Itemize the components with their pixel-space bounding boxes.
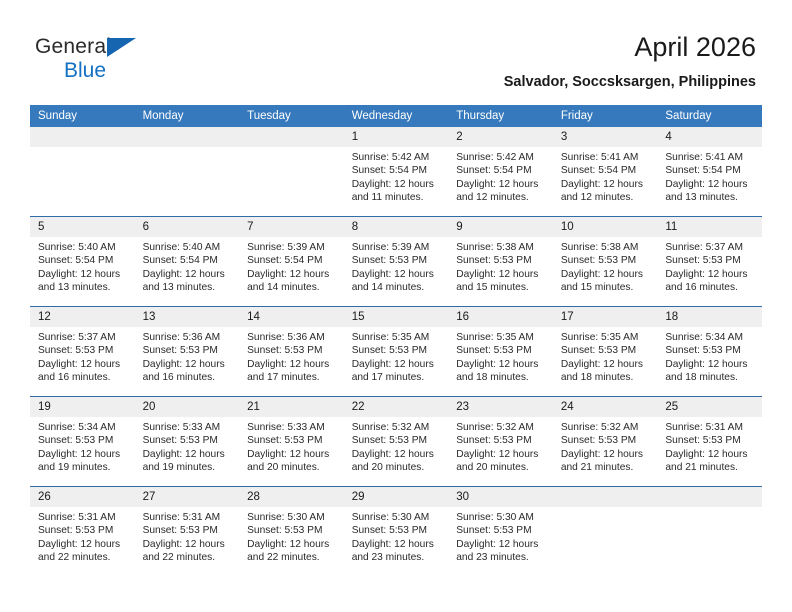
sunrise-time: Sunrise: 5:34 AM [665,331,755,344]
daylight-duration-line2: and 16 minutes. [665,281,755,294]
day-details: Sunrise: 5:35 AMSunset: 5:53 PMDaylight:… [344,327,449,385]
sunset-time: Sunset: 5:53 PM [352,344,442,357]
calendar-day-cell[interactable]: 5Sunrise: 5:40 AMSunset: 5:54 PMDaylight… [30,217,135,307]
calendar-week-row: 19Sunrise: 5:34 AMSunset: 5:53 PMDayligh… [30,397,762,487]
daylight-duration-line2: and 14 minutes. [247,281,337,294]
day-details: Sunrise: 5:30 AMSunset: 5:53 PMDaylight:… [448,507,553,565]
daylight-duration-line1: Daylight: 12 hours [561,358,651,371]
daylight-duration-line1: Daylight: 12 hours [456,178,546,191]
day-cell-inner: 26Sunrise: 5:31 AMSunset: 5:53 PMDayligh… [30,487,135,576]
calendar-week-row: 26Sunrise: 5:31 AMSunset: 5:53 PMDayligh… [30,487,762,577]
day-number: 25 [657,397,762,417]
day-details: Sunrise: 5:33 AMSunset: 5:53 PMDaylight:… [239,417,344,475]
sunset-time: Sunset: 5:53 PM [143,344,233,357]
day-cell-inner [657,487,762,576]
sunset-time: Sunset: 5:53 PM [561,434,651,447]
sunset-time: Sunset: 5:53 PM [456,524,546,537]
daylight-duration-line1: Daylight: 12 hours [352,448,442,461]
sunrise-time: Sunrise: 5:41 AM [665,151,755,164]
day-details: Sunrise: 5:30 AMSunset: 5:53 PMDaylight:… [239,507,344,565]
calendar-day-cell[interactable]: 1Sunrise: 5:42 AMSunset: 5:54 PMDaylight… [344,127,449,217]
day-number: 14 [239,307,344,327]
daylight-duration-line2: and 21 minutes. [561,461,651,474]
day-cell-inner: 8Sunrise: 5:39 AMSunset: 5:53 PMDaylight… [344,217,449,306]
day-number: 15 [344,307,449,327]
day-cell-inner: 19Sunrise: 5:34 AMSunset: 5:53 PMDayligh… [30,397,135,486]
page-header: General Blue April 2026 Salvador, Soccsk… [0,0,792,100]
day-cell-inner: 16Sunrise: 5:35 AMSunset: 5:53 PMDayligh… [448,307,553,396]
general-blue-logo: General Blue [35,36,111,83]
day-details: Sunrise: 5:41 AMSunset: 5:54 PMDaylight:… [657,147,762,205]
sunrise-time: Sunrise: 5:33 AM [247,421,337,434]
day-details: Sunrise: 5:35 AMSunset: 5:53 PMDaylight:… [448,327,553,385]
sunrise-time: Sunrise: 5:38 AM [456,241,546,254]
day-number: 20 [135,397,240,417]
day-cell-inner: 17Sunrise: 5:35 AMSunset: 5:53 PMDayligh… [553,307,658,396]
day-cell-inner [553,487,658,576]
daylight-duration-line2: and 12 minutes. [456,191,546,204]
logo-general-label: General [35,35,111,58]
calendar-day-cell[interactable]: 29Sunrise: 5:30 AMSunset: 5:53 PMDayligh… [344,487,449,577]
daylight-duration-line2: and 23 minutes. [456,551,546,564]
daylight-duration-line1: Daylight: 12 hours [143,358,233,371]
day-cell-inner: 7Sunrise: 5:39 AMSunset: 5:54 PMDaylight… [239,217,344,306]
daylight-duration-line2: and 20 minutes. [247,461,337,474]
day-number [239,127,344,147]
weekday-header-tuesday: Tuesday [239,105,344,127]
day-cell-inner [30,127,135,216]
day-cell-inner: 15Sunrise: 5:35 AMSunset: 5:53 PMDayligh… [344,307,449,396]
sunset-time: Sunset: 5:54 PM [143,254,233,267]
day-cell-inner: 2Sunrise: 5:42 AMSunset: 5:54 PMDaylight… [448,127,553,216]
sunset-time: Sunset: 5:53 PM [456,434,546,447]
calendar-day-cell[interactable]: 4Sunrise: 5:41 AMSunset: 5:54 PMDaylight… [657,127,762,217]
daylight-duration-line1: Daylight: 12 hours [352,538,442,551]
day-cell-inner: 24Sunrise: 5:32 AMSunset: 5:53 PMDayligh… [553,397,658,486]
day-number: 28 [239,487,344,507]
daylight-duration-line2: and 13 minutes. [143,281,233,294]
sunrise-time: Sunrise: 5:39 AM [247,241,337,254]
sunrise-time: Sunrise: 5:42 AM [352,151,442,164]
calendar-cell-empty [135,127,240,217]
day-number [135,127,240,147]
page-title: April 2026 [504,32,756,63]
day-details: Sunrise: 5:37 AMSunset: 5:53 PMDaylight:… [30,327,135,385]
day-cell-inner: 12Sunrise: 5:37 AMSunset: 5:53 PMDayligh… [30,307,135,396]
daylight-duration-line1: Daylight: 12 hours [247,448,337,461]
calendar-page: General Blue April 2026 Salvador, Soccsk… [0,0,792,612]
day-details: Sunrise: 5:35 AMSunset: 5:53 PMDaylight:… [553,327,658,385]
daylight-duration-line1: Daylight: 12 hours [352,358,442,371]
weekday-header-thursday: Thursday [448,105,553,127]
sunrise-time: Sunrise: 5:37 AM [38,331,128,344]
sunset-time: Sunset: 5:54 PM [38,254,128,267]
day-cell-inner: 23Sunrise: 5:32 AMSunset: 5:53 PMDayligh… [448,397,553,486]
daylight-duration-line1: Daylight: 12 hours [456,538,546,551]
sunset-time: Sunset: 5:54 PM [247,254,337,267]
daylight-duration-line2: and 18 minutes. [665,371,755,384]
sunrise-time: Sunrise: 5:31 AM [665,421,755,434]
calendar-week-row: 12Sunrise: 5:37 AMSunset: 5:53 PMDayligh… [30,307,762,397]
sunrise-time: Sunrise: 5:31 AM [143,511,233,524]
sunset-time: Sunset: 5:53 PM [247,524,337,537]
sunrise-time: Sunrise: 5:37 AM [665,241,755,254]
weekday-header-sunday: Sunday [30,105,135,127]
day-details: Sunrise: 5:30 AMSunset: 5:53 PMDaylight:… [344,507,449,565]
day-cell-inner: 25Sunrise: 5:31 AMSunset: 5:53 PMDayligh… [657,397,762,486]
day-details: Sunrise: 5:31 AMSunset: 5:53 PMDaylight:… [657,417,762,475]
daylight-duration-line2: and 17 minutes. [352,371,442,384]
day-cell-inner: 4Sunrise: 5:41 AMSunset: 5:54 PMDaylight… [657,127,762,216]
day-cell-inner: 11Sunrise: 5:37 AMSunset: 5:53 PMDayligh… [657,217,762,306]
day-number: 13 [135,307,240,327]
calendar-day-cell[interactable]: 30Sunrise: 5:30 AMSunset: 5:53 PMDayligh… [448,487,553,577]
daylight-duration-line2: and 12 minutes. [561,191,651,204]
daylight-duration-line1: Daylight: 12 hours [143,268,233,281]
day-number: 27 [135,487,240,507]
daylight-duration-line2: and 18 minutes. [456,371,546,384]
page-subtitle: Salvador, Soccsksargen, Philippines [504,74,756,90]
calendar-day-cell[interactable]: 23Sunrise: 5:32 AMSunset: 5:53 PMDayligh… [448,397,553,487]
weekday-header-row: Sunday Monday Tuesday Wednesday Thursday… [30,105,762,127]
sunset-time: Sunset: 5:53 PM [665,254,755,267]
day-number: 16 [448,307,553,327]
day-cell-inner [135,127,240,216]
daylight-duration-line1: Daylight: 12 hours [247,268,337,281]
weekday-header-friday: Friday [553,105,658,127]
daylight-duration-line2: and 16 minutes. [38,371,128,384]
daylight-duration-line1: Daylight: 12 hours [561,178,651,191]
calendar-day-cell[interactable]: 3Sunrise: 5:41 AMSunset: 5:54 PMDaylight… [553,127,658,217]
day-number: 4 [657,127,762,147]
title-block: April 2026 Salvador, Soccsksargen, Phili… [504,32,756,90]
sunrise-time: Sunrise: 5:39 AM [352,241,442,254]
day-number: 18 [657,307,762,327]
day-details: Sunrise: 5:36 AMSunset: 5:53 PMDaylight:… [239,327,344,385]
daylight-duration-line1: Daylight: 12 hours [247,358,337,371]
day-details: Sunrise: 5:37 AMSunset: 5:53 PMDaylight:… [657,237,762,295]
daylight-duration-line1: Daylight: 12 hours [665,178,755,191]
calendar-cell-empty [239,127,344,217]
calendar-day-cell[interactable]: 22Sunrise: 5:32 AMSunset: 5:53 PMDayligh… [344,397,449,487]
daylight-duration-line1: Daylight: 12 hours [352,178,442,191]
day-cell-inner: 18Sunrise: 5:34 AMSunset: 5:53 PMDayligh… [657,307,762,396]
sunrise-time: Sunrise: 5:32 AM [561,421,651,434]
sunset-time: Sunset: 5:53 PM [143,434,233,447]
day-details: Sunrise: 5:38 AMSunset: 5:53 PMDaylight:… [448,237,553,295]
day-number: 24 [553,397,658,417]
day-details: Sunrise: 5:32 AMSunset: 5:53 PMDaylight:… [448,417,553,475]
day-cell-inner: 22Sunrise: 5:32 AMSunset: 5:53 PMDayligh… [344,397,449,486]
day-cell-inner: 9Sunrise: 5:38 AMSunset: 5:53 PMDaylight… [448,217,553,306]
sunset-time: Sunset: 5:54 PM [456,164,546,177]
daylight-duration-line2: and 18 minutes. [561,371,651,384]
sunrise-time: Sunrise: 5:40 AM [38,241,128,254]
sunset-time: Sunset: 5:53 PM [665,434,755,447]
daylight-duration-line1: Daylight: 12 hours [247,538,337,551]
daylight-duration-line1: Daylight: 12 hours [143,538,233,551]
calendar-day-cell[interactable]: 11Sunrise: 5:37 AMSunset: 5:53 PMDayligh… [657,217,762,307]
day-details: Sunrise: 5:42 AMSunset: 5:54 PMDaylight:… [448,147,553,205]
daylight-duration-line1: Daylight: 12 hours [352,268,442,281]
daylight-duration-line2: and 11 minutes. [352,191,442,204]
calendar-day-cell[interactable]: 21Sunrise: 5:33 AMSunset: 5:53 PMDayligh… [239,397,344,487]
day-details: Sunrise: 5:31 AMSunset: 5:53 PMDaylight:… [135,507,240,565]
day-number: 23 [448,397,553,417]
daylight-duration-line2: and 23 minutes. [352,551,442,564]
sunset-time: Sunset: 5:53 PM [352,524,442,537]
day-cell-inner: 21Sunrise: 5:33 AMSunset: 5:53 PMDayligh… [239,397,344,486]
day-cell-inner: 20Sunrise: 5:33 AMSunset: 5:53 PMDayligh… [135,397,240,486]
calendar-day-cell[interactable]: 7Sunrise: 5:39 AMSunset: 5:54 PMDaylight… [239,217,344,307]
calendar-day-cell[interactable]: 6Sunrise: 5:40 AMSunset: 5:54 PMDaylight… [135,217,240,307]
weekday-header-monday: Monday [135,105,240,127]
daylight-duration-line2: and 14 minutes. [352,281,442,294]
calendar-day-cell[interactable]: 8Sunrise: 5:39 AMSunset: 5:53 PMDaylight… [344,217,449,307]
day-details: Sunrise: 5:34 AMSunset: 5:53 PMDaylight:… [30,417,135,475]
calendar-day-cell[interactable]: 12Sunrise: 5:37 AMSunset: 5:53 PMDayligh… [30,307,135,397]
triangle-icon [107,38,136,57]
sunrise-time: Sunrise: 5:30 AM [456,511,546,524]
sunrise-time: Sunrise: 5:32 AM [352,421,442,434]
calendar-week-row: 1Sunrise: 5:42 AMSunset: 5:54 PMDaylight… [30,127,762,217]
calendar-day-cell[interactable]: 9Sunrise: 5:38 AMSunset: 5:53 PMDaylight… [448,217,553,307]
daylight-duration-line2: and 22 minutes. [38,551,128,564]
calendar-day-cell[interactable]: 24Sunrise: 5:32 AMSunset: 5:53 PMDayligh… [553,397,658,487]
day-number: 6 [135,217,240,237]
sunset-time: Sunset: 5:54 PM [352,164,442,177]
calendar-day-cell[interactable]: 10Sunrise: 5:38 AMSunset: 5:53 PMDayligh… [553,217,658,307]
sunset-time: Sunset: 5:53 PM [561,344,651,357]
day-details: Sunrise: 5:38 AMSunset: 5:53 PMDaylight:… [553,237,658,295]
day-details: Sunrise: 5:41 AMSunset: 5:54 PMDaylight:… [553,147,658,205]
day-cell-inner: 3Sunrise: 5:41 AMSunset: 5:54 PMDaylight… [553,127,658,216]
sunset-time: Sunset: 5:53 PM [352,434,442,447]
daylight-duration-line2: and 15 minutes. [456,281,546,294]
day-number: 11 [657,217,762,237]
sunrise-sunset-calendar: Sunday Monday Tuesday Wednesday Thursday… [30,105,762,576]
calendar-day-cell[interactable]: 13Sunrise: 5:36 AMSunset: 5:53 PMDayligh… [135,307,240,397]
day-details: Sunrise: 5:39 AMSunset: 5:53 PMDaylight:… [344,237,449,295]
day-cell-inner: 10Sunrise: 5:38 AMSunset: 5:53 PMDayligh… [553,217,658,306]
daylight-duration-line2: and 21 minutes. [665,461,755,474]
day-details: Sunrise: 5:40 AMSunset: 5:54 PMDaylight:… [30,237,135,295]
sunrise-time: Sunrise: 5:35 AM [561,331,651,344]
calendar-day-cell[interactable]: 28Sunrise: 5:30 AMSunset: 5:53 PMDayligh… [239,487,344,577]
daylight-duration-line1: Daylight: 12 hours [665,448,755,461]
calendar-day-cell[interactable]: 2Sunrise: 5:42 AMSunset: 5:54 PMDaylight… [448,127,553,217]
day-details: Sunrise: 5:34 AMSunset: 5:53 PMDaylight:… [657,327,762,385]
sunrise-time: Sunrise: 5:35 AM [352,331,442,344]
daylight-duration-line1: Daylight: 12 hours [561,448,651,461]
calendar-body: 1Sunrise: 5:42 AMSunset: 5:54 PMDaylight… [30,127,762,576]
day-number: 29 [344,487,449,507]
day-number: 17 [553,307,658,327]
daylight-duration-line2: and 22 minutes. [247,551,337,564]
logo-blue-label: Blue [64,60,111,83]
daylight-duration-line2: and 15 minutes. [561,281,651,294]
daylight-duration-line2: and 19 minutes. [143,461,233,474]
sunset-time: Sunset: 5:53 PM [247,344,337,357]
daylight-duration-line1: Daylight: 12 hours [456,358,546,371]
day-cell-inner: 14Sunrise: 5:36 AMSunset: 5:53 PMDayligh… [239,307,344,396]
daylight-duration-line1: Daylight: 12 hours [38,268,128,281]
sunset-time: Sunset: 5:53 PM [665,344,755,357]
weekday-header-saturday: Saturday [657,105,762,127]
day-details: Sunrise: 5:36 AMSunset: 5:53 PMDaylight:… [135,327,240,385]
sunrise-time: Sunrise: 5:31 AM [38,511,128,524]
day-number: 5 [30,217,135,237]
day-number: 8 [344,217,449,237]
sunrise-time: Sunrise: 5:42 AM [456,151,546,164]
day-number: 7 [239,217,344,237]
day-number: 1 [344,127,449,147]
daylight-duration-line2: and 17 minutes. [247,371,337,384]
day-details: Sunrise: 5:32 AMSunset: 5:53 PMDaylight:… [344,417,449,475]
daylight-duration-line1: Daylight: 12 hours [38,448,128,461]
daylight-duration-line2: and 16 minutes. [143,371,233,384]
calendar-day-cell[interactable]: 14Sunrise: 5:36 AMSunset: 5:53 PMDayligh… [239,307,344,397]
sunrise-time: Sunrise: 5:34 AM [38,421,128,434]
sunset-time: Sunset: 5:53 PM [143,524,233,537]
sunrise-time: Sunrise: 5:36 AM [247,331,337,344]
calendar-week-row: 5Sunrise: 5:40 AMSunset: 5:54 PMDaylight… [30,217,762,307]
daylight-duration-line2: and 19 minutes. [38,461,128,474]
daylight-duration-line2: and 22 minutes. [143,551,233,564]
day-number: 9 [448,217,553,237]
day-number [657,487,762,507]
day-number [553,487,658,507]
day-number: 26 [30,487,135,507]
calendar-cell-empty [30,127,135,217]
daylight-duration-line2: and 20 minutes. [456,461,546,474]
sunset-time: Sunset: 5:53 PM [38,524,128,537]
sunrise-time: Sunrise: 5:33 AM [143,421,233,434]
calendar-day-cell[interactable]: 18Sunrise: 5:34 AMSunset: 5:53 PMDayligh… [657,307,762,397]
calendar-head: Sunday Monday Tuesday Wednesday Thursday… [30,105,762,127]
sunrise-time: Sunrise: 5:35 AM [456,331,546,344]
day-cell-inner [239,127,344,216]
calendar-day-cell[interactable]: 15Sunrise: 5:35 AMSunset: 5:53 PMDayligh… [344,307,449,397]
calendar-cell-empty [553,487,658,577]
daylight-duration-line1: Daylight: 12 hours [456,268,546,281]
weekday-header-wednesday: Wednesday [344,105,449,127]
day-details: Sunrise: 5:32 AMSunset: 5:53 PMDaylight:… [553,417,658,475]
day-number: 19 [30,397,135,417]
day-cell-inner: 29Sunrise: 5:30 AMSunset: 5:53 PMDayligh… [344,487,449,576]
sunset-time: Sunset: 5:53 PM [456,344,546,357]
calendar-cell-empty [657,487,762,577]
sunset-time: Sunset: 5:54 PM [665,164,755,177]
day-number: 3 [553,127,658,147]
day-details: Sunrise: 5:39 AMSunset: 5:54 PMDaylight:… [239,237,344,295]
calendar-day-cell[interactable]: 20Sunrise: 5:33 AMSunset: 5:53 PMDayligh… [135,397,240,487]
sunset-time: Sunset: 5:53 PM [456,254,546,267]
day-number: 2 [448,127,553,147]
day-cell-inner: 5Sunrise: 5:40 AMSunset: 5:54 PMDaylight… [30,217,135,306]
daylight-duration-line1: Daylight: 12 hours [38,538,128,551]
sunrise-time: Sunrise: 5:41 AM [561,151,651,164]
day-details: Sunrise: 5:33 AMSunset: 5:53 PMDaylight:… [135,417,240,475]
daylight-duration-line2: and 13 minutes. [665,191,755,204]
day-details: Sunrise: 5:31 AMSunset: 5:53 PMDaylight:… [30,507,135,565]
daylight-duration-line2: and 13 minutes. [38,281,128,294]
calendar-day-cell[interactable]: 17Sunrise: 5:35 AMSunset: 5:53 PMDayligh… [553,307,658,397]
daylight-duration-line1: Daylight: 12 hours [143,448,233,461]
daylight-duration-line1: Daylight: 12 hours [665,268,755,281]
day-number: 10 [553,217,658,237]
day-number [30,127,135,147]
calendar-day-cell[interactable]: 19Sunrise: 5:34 AMSunset: 5:53 PMDayligh… [30,397,135,487]
day-cell-inner: 27Sunrise: 5:31 AMSunset: 5:53 PMDayligh… [135,487,240,576]
sunset-time: Sunset: 5:53 PM [561,254,651,267]
sunrise-time: Sunrise: 5:38 AM [561,241,651,254]
day-cell-inner: 28Sunrise: 5:30 AMSunset: 5:53 PMDayligh… [239,487,344,576]
day-number: 30 [448,487,553,507]
day-number: 21 [239,397,344,417]
sunrise-time: Sunrise: 5:30 AM [352,511,442,524]
logo-text-general: General [35,36,111,59]
calendar-day-cell[interactable]: 26Sunrise: 5:31 AMSunset: 5:53 PMDayligh… [30,487,135,577]
sunset-time: Sunset: 5:53 PM [247,434,337,447]
day-details: Sunrise: 5:42 AMSunset: 5:54 PMDaylight:… [344,147,449,205]
sunrise-time: Sunrise: 5:40 AM [143,241,233,254]
day-cell-inner: 30Sunrise: 5:30 AMSunset: 5:53 PMDayligh… [448,487,553,576]
day-cell-inner: 13Sunrise: 5:36 AMSunset: 5:53 PMDayligh… [135,307,240,396]
sunrise-time: Sunrise: 5:32 AM [456,421,546,434]
calendar-day-cell[interactable]: 27Sunrise: 5:31 AMSunset: 5:53 PMDayligh… [135,487,240,577]
day-cell-inner: 1Sunrise: 5:42 AMSunset: 5:54 PMDaylight… [344,127,449,216]
sunset-time: Sunset: 5:54 PM [561,164,651,177]
sunset-time: Sunset: 5:53 PM [352,254,442,267]
calendar-day-cell[interactable]: 25Sunrise: 5:31 AMSunset: 5:53 PMDayligh… [657,397,762,487]
sunrise-time: Sunrise: 5:30 AM [247,511,337,524]
daylight-duration-line2: and 20 minutes. [352,461,442,474]
day-cell-inner: 6Sunrise: 5:40 AMSunset: 5:54 PMDaylight… [135,217,240,306]
daylight-duration-line1: Daylight: 12 hours [38,358,128,371]
day-number: 12 [30,307,135,327]
day-details: Sunrise: 5:40 AMSunset: 5:54 PMDaylight:… [135,237,240,295]
sunrise-time: Sunrise: 5:36 AM [143,331,233,344]
calendar-day-cell[interactable]: 16Sunrise: 5:35 AMSunset: 5:53 PMDayligh… [448,307,553,397]
daylight-duration-line1: Daylight: 12 hours [561,268,651,281]
daylight-duration-line1: Daylight: 12 hours [456,448,546,461]
day-number: 22 [344,397,449,417]
sunset-time: Sunset: 5:53 PM [38,344,128,357]
daylight-duration-line1: Daylight: 12 hours [665,358,755,371]
sunset-time: Sunset: 5:53 PM [38,434,128,447]
